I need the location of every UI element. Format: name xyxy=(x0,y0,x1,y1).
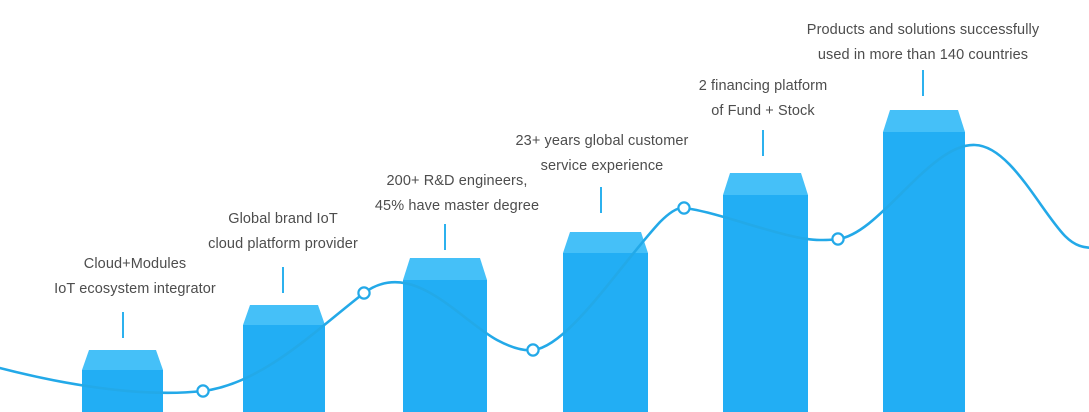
bar-global-countries-label-line2: used in more than 140 countries xyxy=(379,43,1089,68)
bar-financing-platform-label-line1: 2 financing platform xyxy=(219,74,1089,99)
bar-service-experience-label-line2: service experience xyxy=(58,154,1089,179)
bar-financing-platform-label-line2: of Fund + Stock xyxy=(219,99,1089,124)
bar-cloud-modules-label: Cloud+ModulesIoT ecosystem integrator xyxy=(0,252,680,302)
curve-marker-5 xyxy=(832,233,843,244)
bar-rd-engineers-label-line2: 45% have master degree xyxy=(0,194,1002,219)
bar-global-countries-label-tick xyxy=(922,70,924,96)
infographic-chart: Cloud+ModulesIoT ecosystem integratorGlo… xyxy=(0,0,1089,412)
bar-financing-platform-label: 2 financing platformof Fund + Stock xyxy=(219,74,1089,124)
bar-financing-platform-label-tick xyxy=(762,130,764,156)
bar-cloud-modules-label-tick xyxy=(122,312,124,338)
bar-service-experience-label: 23+ years global customerservice experie… xyxy=(58,129,1089,179)
bar-global-countries-label: Products and solutions successfullyused … xyxy=(379,18,1089,68)
bar-global-countries-label-line1: Products and solutions successfully xyxy=(379,18,1089,43)
bar-service-experience-label-tick xyxy=(600,187,602,213)
bar-iot-cloud-platform-body xyxy=(243,325,325,412)
curve-marker-1 xyxy=(197,385,208,396)
curve-marker-3 xyxy=(527,344,538,355)
bar-rd-engineers-label-tick xyxy=(444,224,446,250)
bar-cloud-modules-cap xyxy=(82,350,163,370)
bar-iot-cloud-platform-cap xyxy=(243,305,325,325)
bar-iot-cloud-platform-label-tick xyxy=(282,267,284,293)
bar-cloud-modules xyxy=(82,350,163,412)
bar-cloud-modules-label-line2: IoT ecosystem integrator xyxy=(0,277,680,302)
bar-service-experience-label-line1: 23+ years global customer xyxy=(58,129,1089,154)
bar-iot-cloud-platform xyxy=(243,305,325,412)
bar-iot-cloud-platform-label-line2: cloud platform provider xyxy=(0,232,828,257)
